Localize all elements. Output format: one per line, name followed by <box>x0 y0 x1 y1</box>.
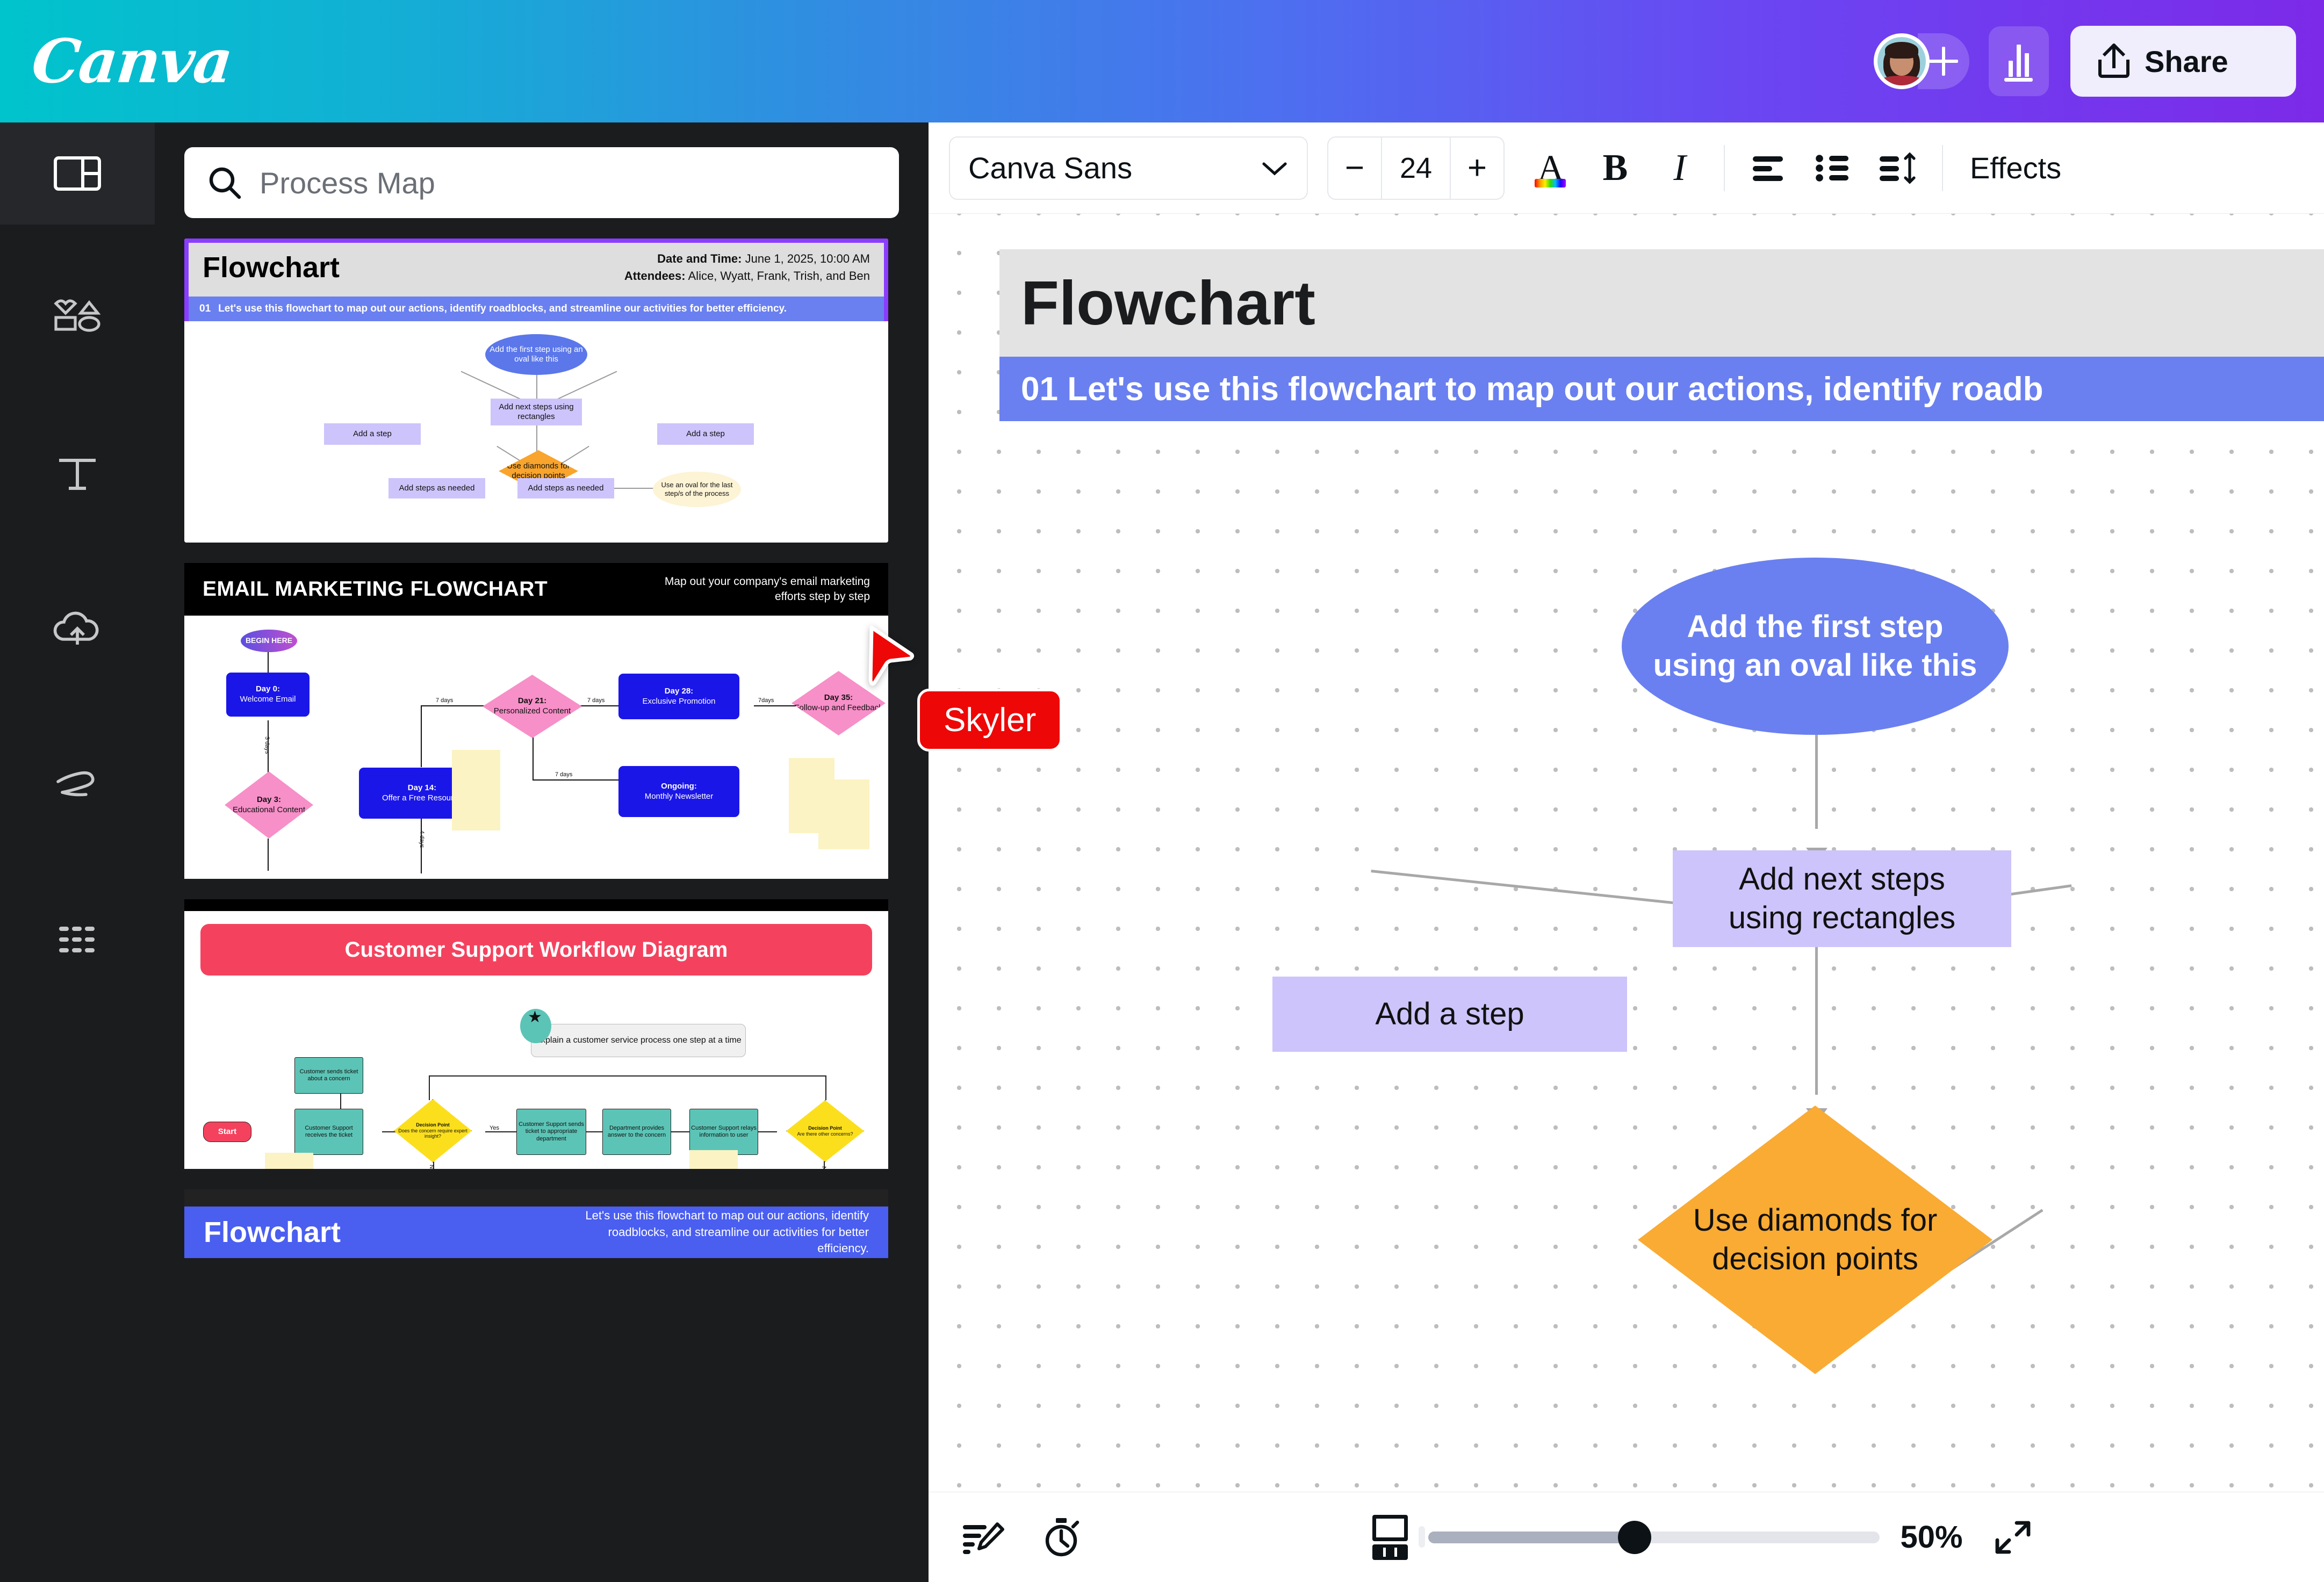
plus-icon <box>1929 47 1958 76</box>
zoom-slider-tick <box>1419 1526 1425 1548</box>
effects-button[interactable]: Effects <box>1970 150 2061 185</box>
template3-topbar <box>184 899 888 911</box>
canvas-doc-band-text: 01 Let's use this flowchart to map out o… <box>1021 370 2044 408</box>
t2-day14-line2: Offer a Free Resource <box>382 793 462 803</box>
canvas-doc-header[interactable]: Flowchart <box>999 249 2324 357</box>
t3-dec1-text: Does the concern require expert insight? <box>398 1128 467 1139</box>
canvas-doc-title: Flowchart <box>1021 267 1315 339</box>
template3-diagram: Start Customer sends ticket about a conc… <box>184 976 888 1169</box>
template-card-email-marketing[interactable]: EMAIL MARKETING FLOWCHART Map out your c… <box>184 563 888 879</box>
t1-node-add-step-left: Add a step <box>324 423 421 445</box>
meta-label-attendees: Attendees: <box>624 269 686 283</box>
font-size-decrease-button[interactable]: − <box>1328 138 1381 199</box>
font-size-stepper: − 24 + <box>1327 136 1505 200</box>
rail-item-apps[interactable] <box>0 863 155 1018</box>
t1-node-oval-end: Use an oval for the last step/s of the p… <box>653 472 741 507</box>
template2-header: EMAIL MARKETING FLOWCHART Map out your c… <box>184 563 888 616</box>
apps-icon <box>58 924 97 957</box>
t3-node-answer: Department provides answer to the concer… <box>602 1109 671 1155</box>
toolbar-divider-2 <box>1942 145 1943 191</box>
t3-sticky-note-3 <box>689 1150 738 1169</box>
t2-node-day21: Day 21:Personalized Content <box>483 675 582 738</box>
t1-node-next-steps: Add next steps using rectangles <box>491 399 582 425</box>
t3-node-ticket-received: Customer Support receives the ticket <box>294 1109 363 1155</box>
edge-rect-to-diamond <box>1815 928 1818 1095</box>
template2-subtitle: Map out your company's email marketing e… <box>644 574 870 605</box>
t2-day35-line1: Day 35: <box>824 693 853 702</box>
chevron-down-icon <box>1261 160 1289 177</box>
template1-meta: Date and Time: June 1, 2025, 10:00 AM At… <box>624 250 870 285</box>
bold-button[interactable]: B <box>1583 136 1647 200</box>
collaborators-group <box>1874 33 1969 89</box>
bottom-left-controls <box>929 1508 1091 1567</box>
t2-day35-line2: Follow-up and Feedback <box>794 703 882 712</box>
template-card-flowchart-blue[interactable]: Flowchart Let's use this flowchart to ma… <box>184 1189 888 1258</box>
text-icon <box>55 454 100 493</box>
align-left-icon <box>1749 151 1789 185</box>
canva-editor-window: Canva Share <box>0 0 2324 1582</box>
zoom-controls: 50% <box>1372 1508 2042 1567</box>
zoom-slider-fill <box>1428 1532 1636 1543</box>
template1-diagram: Add the first step using an oval like th… <box>184 321 888 543</box>
t3-dec2-title: Decision Point <box>808 1125 842 1131</box>
t2-edge-label-7days-d: 7 days <box>555 771 572 778</box>
t3-edge-label-no-2: No <box>821 1166 827 1169</box>
t3-dec1-title: Decision Point <box>416 1122 450 1128</box>
rail-item-list <box>0 225 155 1018</box>
template3-title: Customer Support Workflow Diagram <box>345 938 728 962</box>
template2-diagram: BEGIN HERE Day 0:Welcome Email Day 3:Edu… <box>184 616 888 879</box>
cursor-arrow-icon <box>866 624 920 689</box>
fullscreen-icon <box>1992 1516 2034 1558</box>
template1-title: Flowchart <box>203 251 340 284</box>
font-size-value[interactable]: 24 <box>1381 138 1451 199</box>
template1-band: 01 Let's use this flowchart to map out o… <box>184 297 888 321</box>
t3-node-relay: Customer Support relays information to u… <box>689 1109 758 1155</box>
t2-ongoing-line2: Monthly Newsletter <box>645 792 714 801</box>
t2-day21-line1: Day 21: <box>518 696 546 705</box>
design-canvas[interactable]: Flowchart 01 Let's use this flowchart to… <box>929 214 2324 1492</box>
zoom-level-value[interactable]: 50% <box>1900 1519 1962 1555</box>
zoom-slider[interactable] <box>1428 1532 1880 1543</box>
rail-item-draw[interactable] <box>0 707 155 863</box>
t2-edge-label-7days-a: 7 days <box>436 697 453 704</box>
avatar[interactable] <box>1874 33 1930 89</box>
text-toolbar: Canva Sans − 24 + A B I <box>929 122 2324 214</box>
t1-node-add-step-right: Add a step <box>657 423 754 445</box>
uploads-icon <box>53 611 102 647</box>
canvas-doc-band[interactable]: 01 Let's use this flowchart to map out o… <box>999 357 2324 421</box>
cursor-name-label: Skyler <box>917 689 1062 752</box>
t1-node-steps-right: Add steps as needed <box>517 478 614 499</box>
t2-day0-line1: Day 0: <box>256 684 280 694</box>
fullscreen-button[interactable] <box>1983 1508 2042 1567</box>
t2-sticky-note-1 <box>452 750 500 830</box>
font-size-increase-button[interactable]: + <box>1451 138 1503 199</box>
bullet-list-button[interactable] <box>1801 136 1866 200</box>
t2-edge-label-4days: 4 days <box>419 830 425 848</box>
template4-header: Flowchart Let's use this flowchart to ma… <box>184 1207 888 1258</box>
grid-view-button[interactable] <box>1372 1515 1408 1560</box>
t2-node-day0: Day 0:Welcome Email <box>226 673 310 717</box>
top-header-bar: Canva Share <box>0 0 2324 122</box>
t3-node-ticket-sent: Customer sends ticket about a concern <box>294 1057 363 1094</box>
collaborator-cursor: Skyler <box>866 624 920 691</box>
search-area <box>155 122 929 218</box>
rail-item-text[interactable] <box>0 395 155 551</box>
t2-node-ongoing: Ongoing:Monthly Newsletter <box>618 766 739 817</box>
search-box[interactable] <box>184 147 899 218</box>
side-panel: Flowchart Date and Time: June 1, 2025, 1… <box>155 122 929 1582</box>
template1-band-text: Let's use this flowchart to map out our … <box>218 303 787 315</box>
share-button-label: Share <box>2145 44 2228 79</box>
timer-icon <box>1040 1516 1083 1559</box>
t2-day3-line1: Day 3: <box>257 795 281 804</box>
text-color-button[interactable]: A <box>1519 136 1583 200</box>
bold-icon: B <box>1603 147 1628 190</box>
line-spacing-icon <box>1876 151 1919 185</box>
template4-subtitle: Let's use this flowchart to map out our … <box>568 1208 869 1257</box>
canvas-node-next-steps[interactable]: Add next stepsusing rectangles <box>1673 850 2011 947</box>
t3-node-start: Start <box>203 1122 251 1142</box>
t2-edge-label-3days: 3 days <box>264 736 270 754</box>
search-icon <box>208 166 241 199</box>
template4-topbar <box>184 1189 888 1207</box>
t2-day28-line1: Day 28: <box>665 687 693 696</box>
t2-day21-line2: Personalized Content <box>494 706 571 716</box>
template-list: Flowchart Date and Time: June 1, 2025, 1… <box>155 218 929 1258</box>
t3-edge-label-yes: Yes <box>490 1125 499 1131</box>
canvas-node-decision-diamond[interactable]: Use diamonds fordecision points <box>1638 1106 1992 1374</box>
draw-icon <box>53 769 102 801</box>
toolbar-divider-1 <box>1724 145 1725 191</box>
t1-node-oval-start: Add the first step using an oval like th… <box>485 334 587 375</box>
meta-value-attendees: Alice, Wyatt, Frank, Trish, and Ben <box>686 269 870 283</box>
rail-item-design[interactable] <box>0 122 155 225</box>
t2-node-begin: BEGIN HERE <box>241 630 297 652</box>
template3-banner: Customer Support Workflow Diagram <box>200 924 872 976</box>
t2-day28-line2: Exclusive Promotion <box>643 697 716 706</box>
t2-day14-line1: Day 14: <box>408 783 436 792</box>
search-input[interactable] <box>260 165 875 200</box>
edge-rect-to-left-step <box>1371 870 1724 909</box>
t3-node-decision-2: Decision PointAre there other concerns? <box>786 1100 864 1162</box>
bullet-list-icon <box>1813 151 1854 185</box>
t3-dec2-text: Are there other concerns? <box>797 1131 853 1137</box>
zoom-slider-knob[interactable] <box>1618 1521 1651 1554</box>
font-family-value: Canva Sans <box>968 150 1132 185</box>
canvas-node-add-a-step[interactable]: Add a step <box>1272 977 1627 1052</box>
design-layout-icon <box>54 156 101 191</box>
share-upload-icon <box>2098 45 2129 78</box>
template4-title: Flowchart <box>204 1216 341 1249</box>
font-family-select[interactable]: Canva Sans <box>949 136 1308 200</box>
notes-button[interactable] <box>954 1508 1013 1567</box>
meta-value-date: June 1, 2025, 10:00 AM <box>742 252 870 265</box>
color-gradient-bar <box>1535 179 1566 187</box>
template-card-flowchart-meeting[interactable]: Flowchart Date and Time: June 1, 2025, 1… <box>184 239 888 543</box>
t3-sticky-note-1 <box>265 1153 313 1169</box>
t2-ongoing-line1: Ongoing: <box>661 782 697 791</box>
share-button[interactable]: Share <box>2070 26 2296 97</box>
notes-edit-icon <box>961 1519 1007 1556</box>
t2-day0-line2: Welcome Email <box>240 695 296 704</box>
t3-node-decision-1: Decision PointDoes the concern require e… <box>394 1099 472 1162</box>
t2-edge-label-7days-c: 7days <box>758 697 774 704</box>
template2-title: EMAIL MARKETING FLOWCHART <box>203 577 548 601</box>
italic-button[interactable]: I <box>1647 136 1712 200</box>
t2-node-day28: Day 28:Exclusive Promotion <box>618 674 739 719</box>
editor-area: Canva Sans − 24 + A B I <box>929 122 2324 1582</box>
t3-node-route: Customer Support sends ticket to appropr… <box>516 1109 586 1155</box>
t2-edge-label-7days-b: 7 days <box>587 697 605 704</box>
elements-icon <box>52 298 103 337</box>
t1-node-steps-left: Add steps as needed <box>388 478 485 499</box>
canvas-node-start-oval[interactable]: Add the first stepusing an oval like thi… <box>1622 558 2009 735</box>
rail-item-elements[interactable] <box>0 240 155 395</box>
bottom-toolbar: 50% <box>929 1492 2324 1582</box>
template-card-customer-support[interactable]: Customer Support Workflow Diagram Start <box>184 899 888 1169</box>
italic-icon: I <box>1673 147 1686 190</box>
template1-header: Flowchart Date and Time: June 1, 2025, 1… <box>184 239 888 297</box>
t2-day3-line2: Educational Content <box>233 805 305 814</box>
left-rail <box>0 122 155 1582</box>
t3-star-badge: ★ <box>520 1009 551 1043</box>
t2-sticky-note-3 <box>818 779 869 849</box>
meta-label-date: Date and Time: <box>657 252 742 265</box>
bar-chart-icon <box>2009 45 2029 77</box>
canva-logo[interactable]: Canva <box>28 26 235 97</box>
rail-item-uploads[interactable] <box>0 551 155 707</box>
template1-band-number: 01 <box>199 303 211 315</box>
line-spacing-button[interactable] <box>1866 136 1930 200</box>
timer-button[interactable] <box>1032 1508 1091 1567</box>
header-right-controls: Share <box>1874 26 2324 97</box>
analytics-button[interactable] <box>1989 26 2049 96</box>
t2-node-day3: Day 3:Educational Content <box>225 771 313 839</box>
t3-edge-label-no-1: No <box>428 1165 435 1169</box>
align-button[interactable] <box>1737 136 1801 200</box>
t3-callout: Explain a customer service process one s… <box>531 1024 746 1057</box>
